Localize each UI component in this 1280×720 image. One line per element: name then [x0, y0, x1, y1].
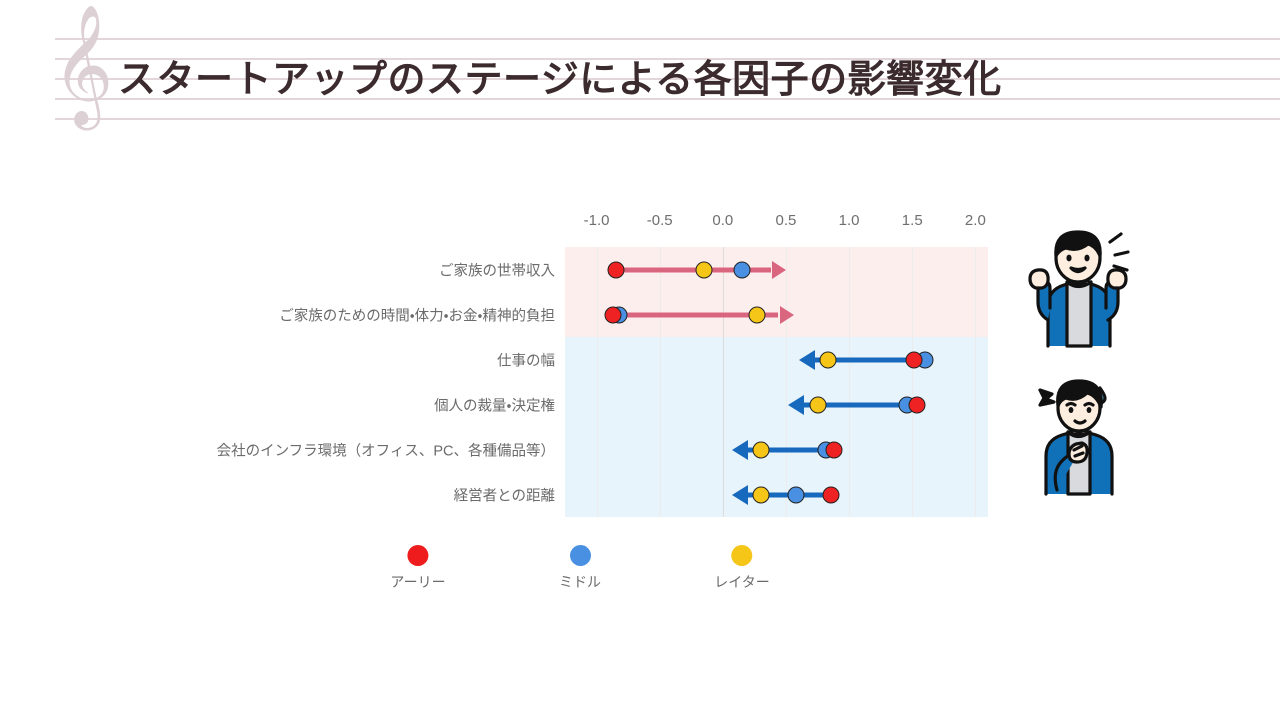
legend-swatch-later — [731, 545, 752, 566]
happy-person-illustration — [1018, 228, 1138, 354]
gridline — [723, 247, 724, 517]
x-tick-label: 2.0 — [965, 212, 986, 229]
data-point-early[interactable] — [905, 351, 922, 368]
legend-item-middle[interactable]: ミドル — [559, 545, 601, 592]
trend-arrow-left — [732, 440, 748, 460]
legend-item-later[interactable]: レイター — [714, 545, 769, 592]
x-tick-label: 1.0 — [839, 212, 860, 229]
x-tick-label: -0.5 — [647, 212, 673, 229]
category-label: 個人の裁量・決定権 — [100, 394, 555, 415]
trend-arrow-right — [772, 261, 786, 279]
gridline — [660, 247, 661, 517]
trend-arrow-left — [788, 395, 804, 415]
gridline — [786, 247, 787, 517]
data-point-later[interactable] — [819, 351, 836, 368]
data-point-later[interactable] — [695, 261, 712, 278]
worried-person-illustration — [1022, 372, 1140, 500]
legend-swatch-early — [407, 545, 428, 566]
data-point-middle[interactable] — [733, 261, 750, 278]
x-tick-label: 1.5 — [902, 212, 923, 229]
chart: -1.0-0.50.00.51.01.52.0 ご家族の世帯収入ご家族のための時… — [0, 0, 1280, 720]
data-point-later[interactable] — [752, 441, 769, 458]
data-point-early[interactable] — [825, 441, 842, 458]
category-label: 仕事の幅 — [100, 349, 555, 370]
plot-area — [565, 247, 988, 517]
x-tick-label: 0.0 — [712, 212, 733, 229]
gridline — [912, 247, 913, 517]
category-label: 会社のインフラ環境（オフィス、PC、各種備品等） — [100, 439, 555, 460]
legend-label: アーリー — [390, 572, 445, 592]
legend-label: ミドル — [559, 572, 601, 592]
x-tick-label: -1.0 — [584, 212, 610, 229]
category-label: ご家族の世帯収入 — [100, 259, 555, 280]
data-point-later[interactable] — [752, 486, 769, 503]
x-tick-label: 0.5 — [776, 212, 797, 229]
trend-arrow-left — [799, 350, 815, 370]
legend-swatch-middle — [570, 545, 591, 566]
slide: 𝄞 スタートアップのステージによる各因子の影響変化 -1.0-0.50.00.5… — [0, 0, 1280, 720]
data-point-later[interactable] — [809, 396, 826, 413]
data-point-later[interactable] — [748, 306, 765, 323]
legend-label: レイター — [714, 572, 769, 592]
gridline — [849, 247, 850, 517]
trend-arrow-left — [732, 485, 748, 505]
data-point-early[interactable] — [909, 396, 926, 413]
category-label: 経営者との距離 — [100, 484, 555, 505]
gridline — [597, 247, 598, 517]
data-point-early[interactable] — [823, 486, 840, 503]
data-point-early[interactable] — [604, 306, 621, 323]
trend-arrow-right — [780, 306, 794, 324]
category-label: ご家族のための時間・体力・お金・精神的負担 — [100, 304, 555, 325]
legend: アーリーミドルレイター — [0, 545, 1280, 605]
data-point-middle[interactable] — [788, 486, 805, 503]
legend-item-early[interactable]: アーリー — [390, 545, 445, 592]
data-point-early[interactable] — [607, 261, 624, 278]
gridline — [975, 247, 976, 517]
